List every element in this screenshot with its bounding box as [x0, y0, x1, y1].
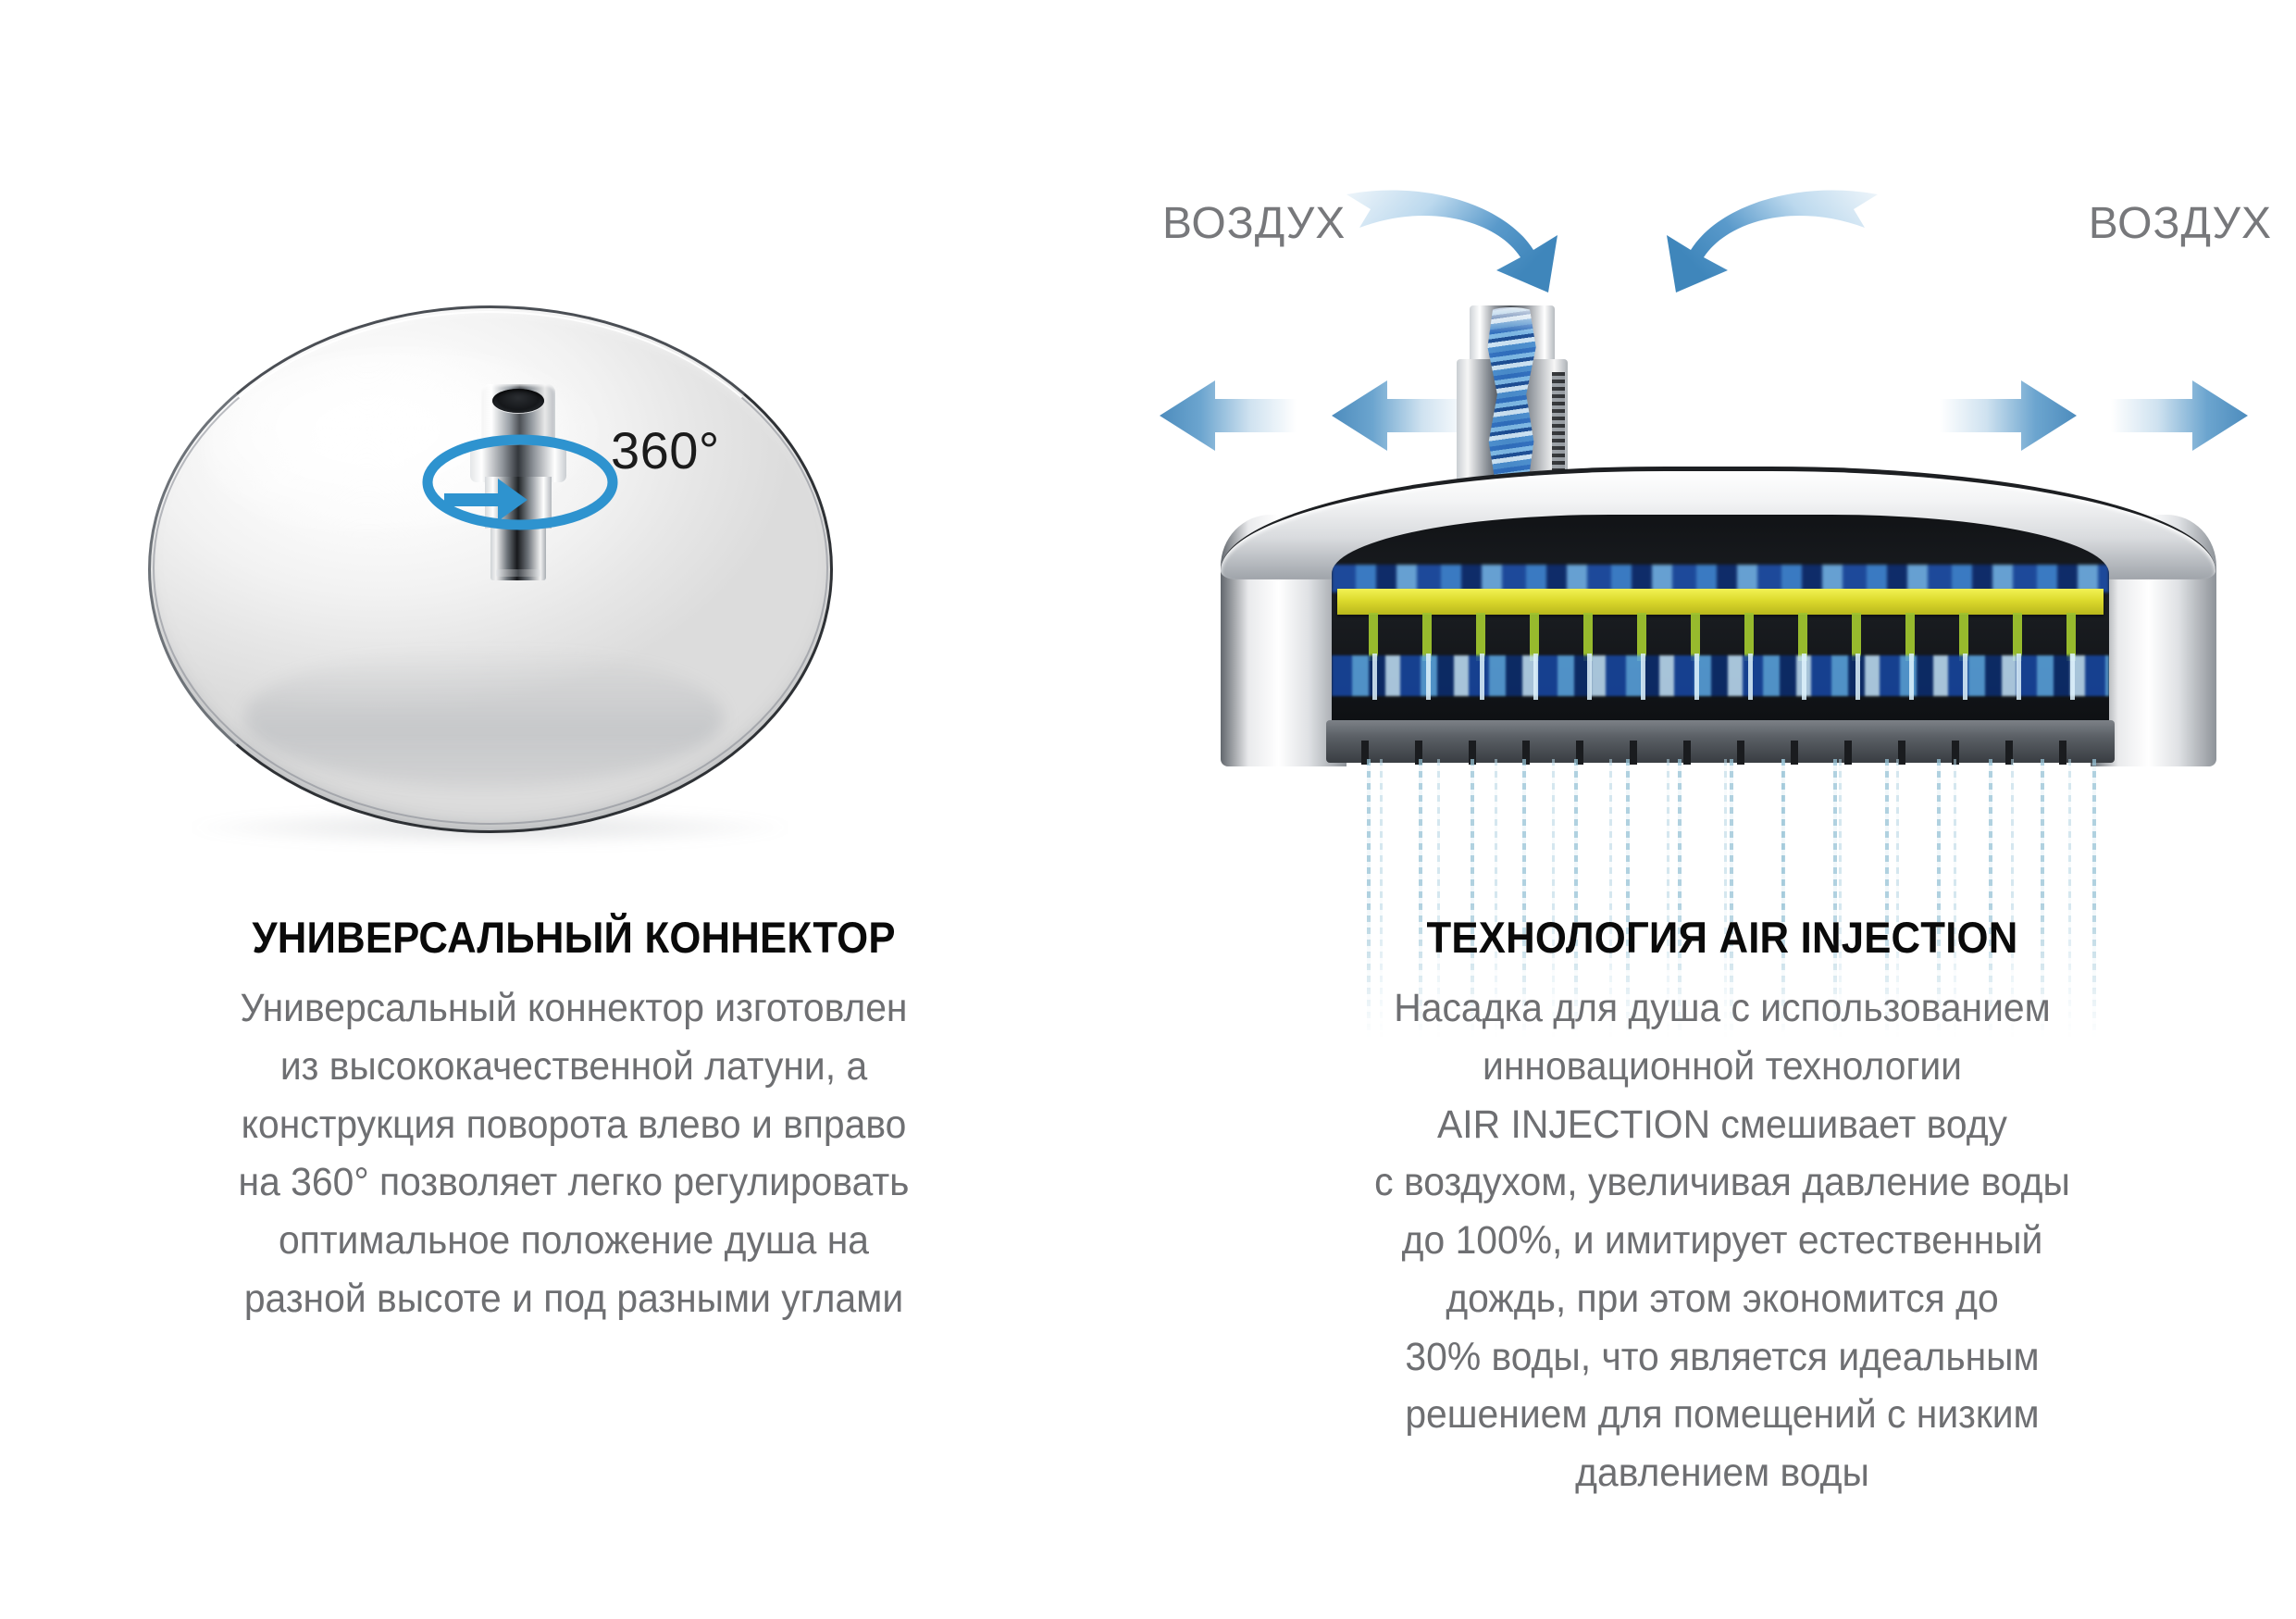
caption-universal-connector: УНИВЕРСАЛЬНЫЙ КОННЕКТОР Универсальный ко…	[0, 912, 1148, 1328]
figure-shower-head-cutaway: ВОЗДУХ ВОЗДУХ	[1148, 0, 2296, 907]
inlet-threads	[1552, 372, 1565, 476]
rotate-360-ring-icon	[418, 430, 622, 534]
connector-bore-icon	[492, 389, 544, 413]
yellow-membrane	[1337, 589, 2104, 615]
air-label-left: ВОЗДУХ	[1162, 198, 1346, 249]
panel-title-universal-connector: УНИВЕРСАЛЬНЫЙ КОННЕКТОР	[40, 912, 1107, 963]
panel-body-universal-connector: Универсальный коннектор изготовлен из вы…	[152, 979, 996, 1328]
cutaway-interior	[1332, 515, 2109, 735]
air-intake-arrow-left-icon	[1343, 174, 1593, 294]
air-outflow-arrow-right-outer-icon	[2111, 375, 2250, 456]
rotation-degrees-label: 360°	[611, 420, 720, 480]
panel-title-air-injection: ТЕХНОЛОГИЯ AIR INJECTION	[1188, 912, 2255, 963]
air-outflow-arrow-left-inner-icon	[1330, 375, 1469, 456]
panel-air-injection: ВОЗДУХ ВОЗДУХ	[1148, 0, 2296, 1619]
air-label-right: ВОЗДУХ	[2089, 198, 2272, 249]
infographic-page: 360° УНИВЕРСАЛЬНЫЙ КОННЕКТОР Универсальн…	[0, 0, 2296, 1619]
panel-universal-connector: 360° УНИВЕРСАЛЬНЫЙ КОННЕКТОР Универсальн…	[0, 0, 1148, 1619]
air-outflow-arrow-left-outer-icon	[1158, 375, 1297, 456]
panel-body-air-injection: Насадка для душа с использованием иннова…	[1283, 979, 2162, 1502]
air-outflow-arrow-right-inner-icon	[1940, 375, 2079, 456]
chrome-disc-assembly: 360°	[148, 305, 833, 833]
internal-jets	[1339, 654, 2102, 700]
inlet-tube	[1454, 305, 1570, 491]
cutaway-stage: ВОЗДУХ ВОЗДУХ	[1148, 0, 2296, 907]
air-intake-arrow-right-icon	[1632, 174, 1881, 294]
figure-shower-head-top-view: 360°	[0, 0, 1148, 907]
caption-air-injection: ТЕХНОЛОГИЯ AIR INJECTION Насадка для душ…	[1148, 912, 2296, 1502]
